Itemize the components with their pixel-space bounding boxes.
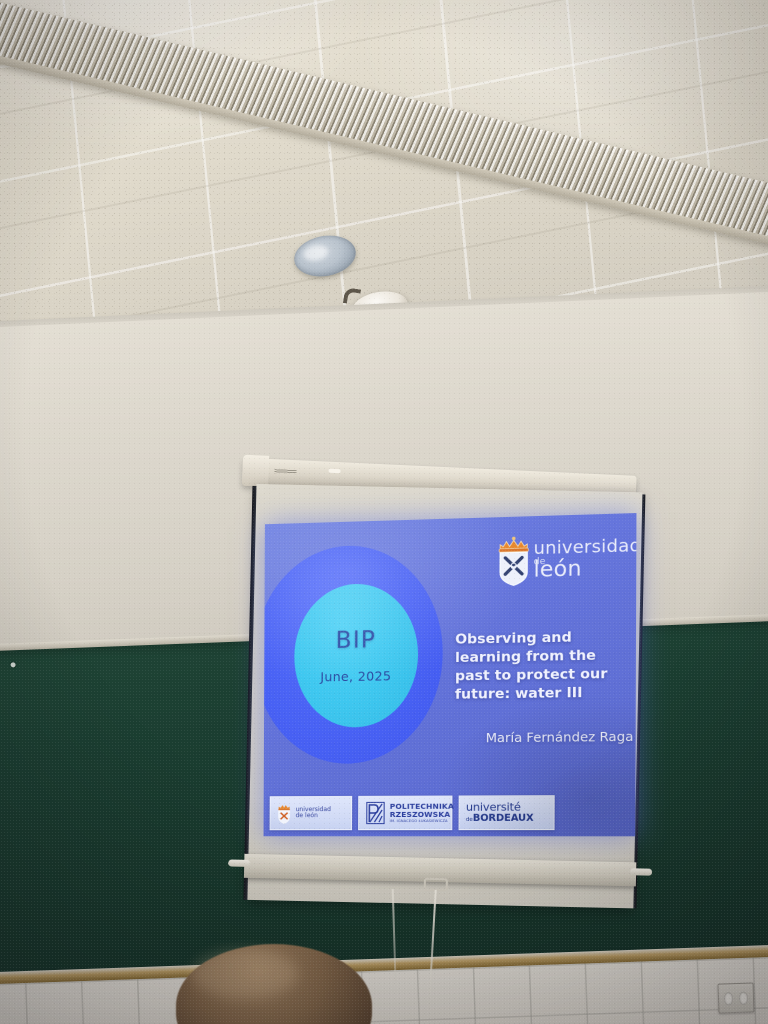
coat-of-arms-icon [494, 535, 534, 587]
slide-author: María Fernández Raga [455, 729, 634, 746]
politechnika-monogram-icon [365, 801, 385, 825]
partner-logo-text: POLITECHNIKA RZESZOWSKA IM. IGNACEGO ŁUK… [390, 802, 454, 823]
outlet-socket [738, 991, 747, 1004]
housing-end-cap [242, 455, 269, 487]
outlet-socket [724, 992, 733, 1005]
wall-outlet-icon[interactable] [717, 982, 754, 1013]
coat-of-arms-icon [277, 803, 292, 824]
partner-logo-line2: deBORDEAUX [466, 813, 547, 823]
projected-slide: BIP June, 2025 universidad [264, 513, 637, 836]
housing-bracket [328, 469, 340, 474]
partner-logo-strip: universidad de león POLITECHNIKA RZE [270, 795, 555, 830]
logo-line-leon: león [533, 556, 636, 580]
partner-logo-universidad-de-leon: universidad de león [270, 796, 353, 830]
projection-screen-unit: BIP June, 2025 universidad [233, 458, 643, 929]
partner-logo-text: université deBORDEAUX [466, 802, 548, 824]
partner-logo-line2-main: BORDEAUX [473, 812, 534, 823]
partner-logo-line3: IM. IGNACEGO ŁUKASIEWICZA [390, 820, 454, 824]
universidad-de-leon-logo: universidad león de [494, 530, 627, 589]
weight-bar-end-knob [630, 868, 652, 875]
partner-logo-line2-prefix: de [466, 817, 473, 823]
logo-line-universidad: universidad [534, 538, 637, 558]
weight-bar-end-knob [228, 859, 250, 866]
slide-badge-acronym: BIP [294, 626, 418, 655]
partner-logo-text: universidad de león [296, 807, 331, 820]
logo-connector-de: de [534, 558, 546, 568]
chalkboard-clip [11, 662, 16, 667]
universidad-de-leon-wordmark: universidad león de [533, 538, 636, 581]
partner-logo-line2: de león [296, 813, 331, 819]
partner-logo-line2: RZESZOWSKA [390, 810, 454, 818]
classroom-scene: BIP June, 2025 universidad [0, 0, 768, 1024]
partner-logo-universite-de-bordeaux: université deBORDEAUX [459, 795, 555, 830]
slide-badge-date: June, 2025 [294, 668, 418, 685]
housing-vent [274, 469, 296, 474]
partner-logo-politechnika-rzeszowska: POLITECHNIKA RZESZOWSKA IM. IGNACEGO ŁUK… [358, 796, 452, 831]
slide-title: Observing and learning from the past to … [455, 627, 634, 704]
